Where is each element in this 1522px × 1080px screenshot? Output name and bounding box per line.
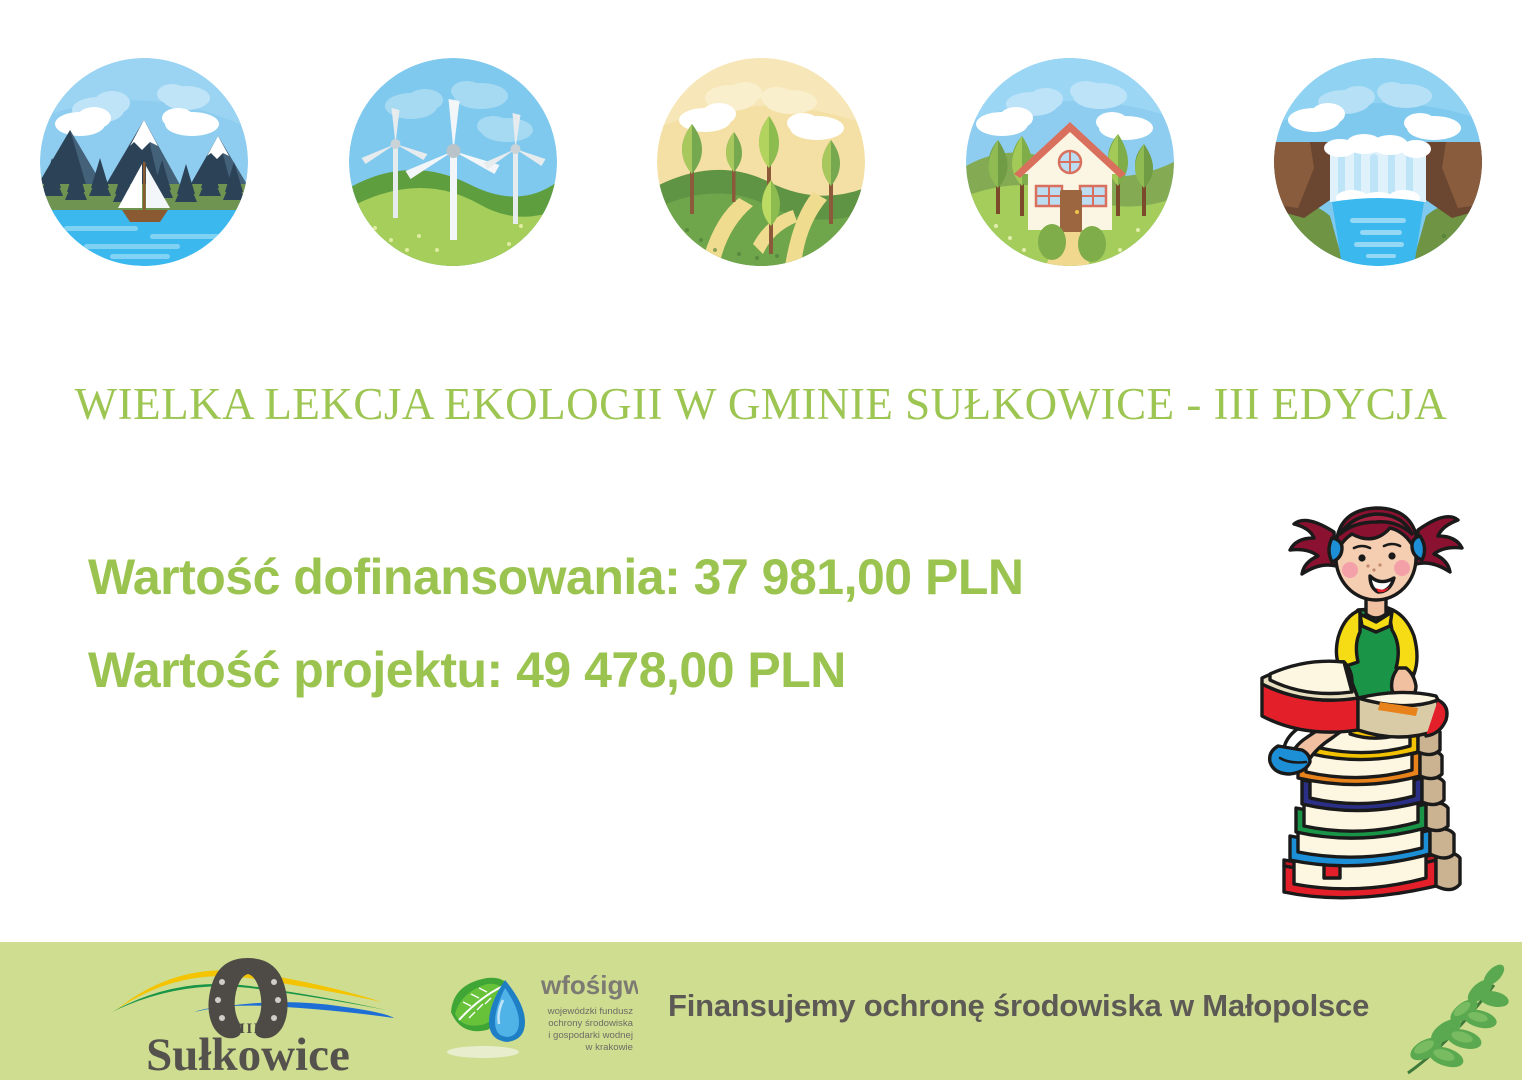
gmina-sulkowice-logo: GMINA Sułkowice	[98, 948, 398, 1076]
wfosigw-logo: wfośigw wojewódzki fundusz ochrony środo…	[443, 964, 638, 1064]
wfosigw-wordmark-text: wfośigw	[540, 970, 638, 1000]
wfos-subtitle-line-2: ochrony środowiska	[548, 1018, 633, 1029]
sulkowice-wordmark-text: Sułkowice	[146, 1029, 350, 1076]
value-line-funding: Wartość dofinansowania: 37 981,00 PLN	[88, 552, 1023, 602]
fields-trees-icon	[657, 58, 865, 266]
country-house-icon	[966, 58, 1174, 266]
wfos-subtitle-line-4: w krakowie	[585, 1042, 633, 1053]
poster-canvas: WIELKA LEKCJA EKOLOGII W GMINIE SUŁKOWIC…	[0, 0, 1522, 1080]
waterfall-icon	[1274, 58, 1482, 266]
footer-band: GMINA Sułkowice	[0, 942, 1522, 1080]
page-title: WIELKA LEKCJA EKOLOGII W GMINIE SUŁKOWIC…	[0, 378, 1522, 430]
girl-reading-on-books-illustration	[1240, 462, 1490, 912]
wind-turbines-icon	[349, 58, 557, 266]
mountain-lake-sailboat-icon	[40, 58, 248, 266]
footer-tagline: Finansujemy ochronę środowiska w Małopol…	[668, 988, 1369, 1024]
leaf-branch-decoration	[1402, 953, 1512, 1078]
wfos-subtitle-line-1: wojewódzki fundusz	[547, 1006, 634, 1017]
wfos-subtitle-line-3: i gospodarki wodnej	[548, 1030, 633, 1041]
funding-values: Wartość dofinansowania: 37 981,00 PLN Wa…	[88, 552, 1023, 695]
value-line-project: Wartość projektu: 49 478,00 PLN	[88, 645, 1023, 695]
eco-icon-row	[0, 58, 1522, 273]
